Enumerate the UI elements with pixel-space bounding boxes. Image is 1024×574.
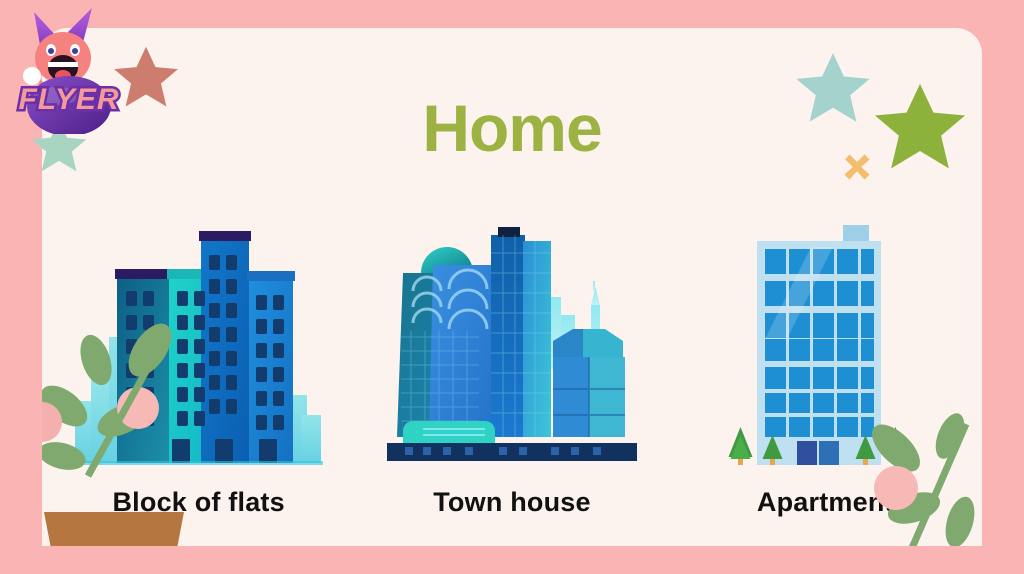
page-title: Home	[42, 90, 982, 166]
apartment-illustration	[715, 219, 935, 469]
vocab-item-apartment[interactable]: Apartment	[675, 219, 975, 518]
flyer-logo[interactable]: FLYER	[6, 2, 132, 134]
slide-root: Home	[0, 0, 1024, 574]
vocab-label-town-house: Town house	[433, 487, 591, 518]
flyer-logo-text: FLYER	[18, 83, 119, 116]
vocab-label-apartment: Apartment	[757, 487, 894, 518]
slide-card: Home	[42, 28, 982, 546]
vocab-item-block-of-flats[interactable]: Block of flats	[49, 219, 349, 518]
town-house-illustration	[387, 219, 637, 469]
vocab-item-town-house[interactable]: Town house	[362, 219, 662, 518]
vocab-label-block-of-flats: Block of flats	[112, 487, 284, 518]
block-of-flats-illustration	[69, 219, 329, 469]
vocabulary-row: Block of flats	[42, 188, 982, 518]
